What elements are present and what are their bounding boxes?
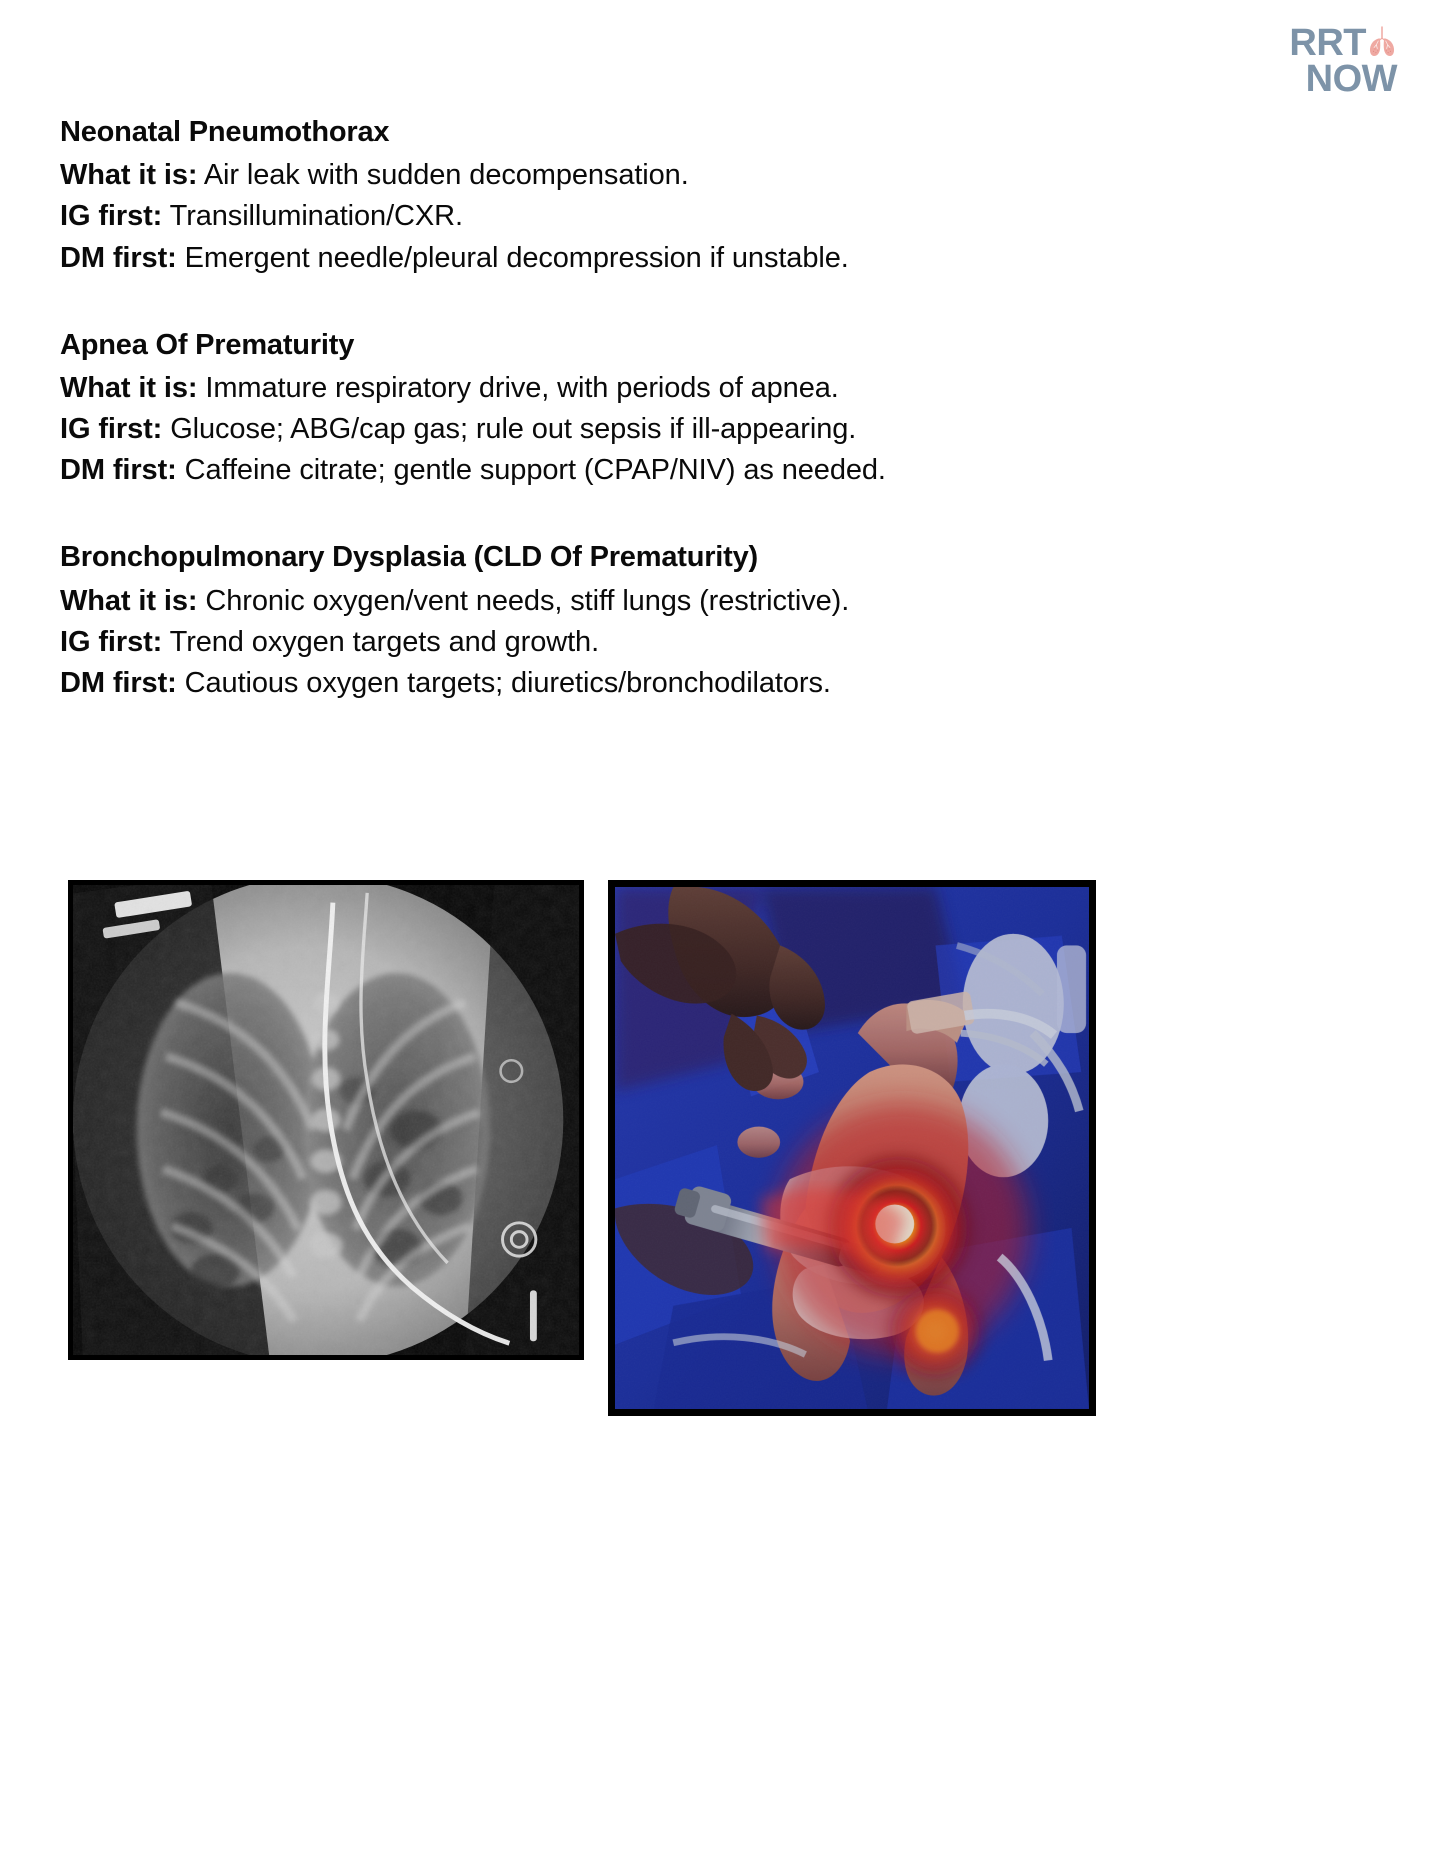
lungs-icon [1367, 24, 1397, 58]
row-label: What it is: [60, 372, 197, 404]
brand-name-line2: NOW [1306, 62, 1397, 97]
section-title: Apnea Of Prematurity [60, 325, 1390, 366]
row-label: IG first: [60, 626, 162, 658]
row-label: DM first: [60, 667, 177, 699]
brand-name-line1: RRT [1289, 26, 1366, 61]
section-row: IG first: Trend oxygen targets and growt… [60, 622, 1390, 663]
row-label: IG first: [60, 413, 162, 445]
section-row: DM first: Caffeine citrate; gentle suppo… [60, 450, 1390, 491]
row-label: DM first: [60, 454, 177, 486]
neonatal-chest-xray [68, 880, 584, 1360]
brand-logo-bottom-row: NOW [1289, 61, 1397, 97]
row-value: Chronic oxygen/vent needs, stiff lungs (… [205, 585, 849, 617]
row-value: Cautious oxygen targets; diuretics/bronc… [185, 667, 831, 699]
study-notes-content: Neonatal Pneumothorax What it is: Air le… [60, 112, 1390, 704]
section-row: DM first: Emergent needle/pleural decomp… [60, 238, 1390, 279]
section-neonatal-pneumothorax: Neonatal Pneumothorax What it is: Air le… [60, 112, 1390, 279]
section-row: What it is: Chronic oxygen/vent needs, s… [60, 581, 1390, 622]
row-value: Air leak with sudden decompensation. [204, 159, 689, 191]
row-value: Transillumination/CXR. [170, 200, 463, 232]
row-value: Glucose; ABG/cap gas; rule out sepsis if… [170, 413, 856, 445]
section-row: What it is: Immature respiratory drive, … [60, 368, 1390, 409]
section-row: IG first: Transillumination/CXR. [60, 196, 1390, 237]
section-title: Bronchopulmonary Dysplasia (CLD Of Prema… [60, 537, 1390, 578]
section-bronchopulmonary-dysplasia: Bronchopulmonary Dysplasia (CLD Of Prema… [60, 537, 1390, 704]
row-label: DM first: [60, 242, 177, 274]
section-title: Neonatal Pneumothorax [60, 112, 1390, 153]
section-row: DM first: Cautious oxygen targets; diure… [60, 663, 1390, 704]
figure-row [0, 880, 1445, 1440]
section-row: What it is: Air leak with sudden decompe… [60, 155, 1390, 196]
brand-logo-top-row: RRT [1289, 26, 1397, 61]
section-apnea-of-prematurity: Apnea Of Prematurity What it is: Immatur… [60, 325, 1390, 492]
row-value: Immature respiratory drive, with periods… [205, 372, 838, 404]
row-value: Caffeine citrate; gentle support (CPAP/N… [185, 454, 886, 486]
row-value: Emergent needle/pleural decompression if… [185, 242, 849, 274]
brand-logo: RRT NOW [1289, 26, 1397, 97]
row-label: IG first: [60, 200, 162, 232]
row-label: What it is: [60, 159, 197, 191]
transillumination-photo [608, 880, 1096, 1416]
row-label: What it is: [60, 585, 197, 617]
section-row: IG first: Glucose; ABG/cap gas; rule out… [60, 409, 1390, 450]
row-value: Trend oxygen targets and growth. [170, 626, 599, 658]
